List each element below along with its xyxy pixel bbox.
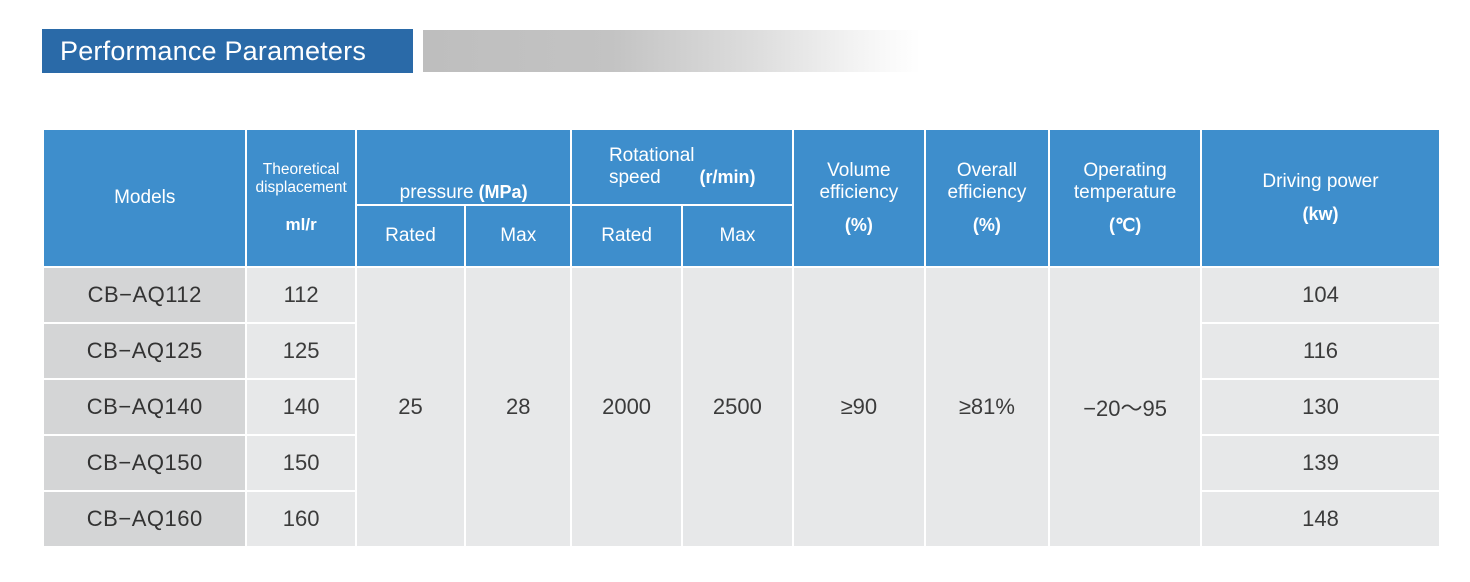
cell-operating-temperature: −20～95	[1050, 268, 1200, 546]
section-title-band: Performance Parameters	[42, 29, 1442, 73]
rotational-speed-label: Rotational speed	[609, 145, 695, 189]
cell-model: CB−AQ125	[44, 324, 245, 378]
column-header-rotational-max: Max	[683, 206, 792, 266]
cell-displacement: 140	[247, 380, 354, 434]
cell-driving-power: 130	[1202, 380, 1439, 434]
cell-rotational-max: 2500	[683, 268, 792, 546]
cell-rotational-rated: 2000	[572, 268, 680, 546]
driving-power-label: Driving power	[1262, 171, 1378, 193]
column-header-volume-efficiency: Volume efficiency (%)	[794, 130, 924, 266]
column-header-rotational-speed-group: Rotational speed (r/min)	[572, 130, 792, 204]
table-header: Models Theoretical displacement ml/r pre…	[44, 130, 1439, 266]
volume-efficiency-unit: (%)	[845, 215, 873, 236]
column-header-operating-temperature: Operating temperature (℃)	[1050, 130, 1200, 266]
pressure-label: pressure	[400, 182, 474, 204]
cell-model: CB−AQ160	[44, 492, 245, 546]
column-header-pressure-group: pressure (MPa)	[357, 130, 571, 204]
column-header-theoretical-displacement: Theoretical displacement ml/r	[247, 130, 354, 266]
cell-pressure-max: 28	[466, 268, 570, 546]
overall-efficiency-label: Overall efficiency	[947, 160, 1026, 204]
theoretical-displacement-unit: ml/r	[286, 215, 317, 235]
page-title: Performance Parameters	[42, 29, 413, 73]
header-row-top: Models Theoretical displacement ml/r pre…	[44, 130, 1439, 204]
column-header-overall-efficiency: Overall efficiency (%)	[926, 130, 1049, 266]
cell-driving-power: 104	[1202, 268, 1439, 322]
performance-parameters-table: Models Theoretical displacement ml/r pre…	[42, 128, 1441, 548]
pressure-unit: (MPa)	[479, 182, 528, 204]
cell-driving-power: 148	[1202, 492, 1439, 546]
column-header-pressure-rated: Rated	[357, 206, 464, 266]
table-row: CB−AQ112 112 25 28 2000 2500 ≥90 ≥81% −2…	[44, 268, 1439, 322]
cell-displacement: 150	[247, 436, 354, 490]
cell-driving-power: 116	[1202, 324, 1439, 378]
cell-displacement: 125	[247, 324, 354, 378]
column-header-driving-power: Driving power (kw)	[1202, 130, 1439, 266]
operating-temperature-label: Operating temperature	[1074, 160, 1176, 204]
column-header-models: Models	[44, 130, 245, 266]
table-body: CB−AQ112 112 25 28 2000 2500 ≥90 ≥81% −2…	[44, 268, 1439, 546]
theoretical-displacement-label: Theoretical displacement	[255, 161, 346, 198]
operating-temperature-unit: (℃)	[1109, 215, 1141, 236]
cell-model: CB−AQ112	[44, 268, 245, 322]
cell-displacement: 160	[247, 492, 354, 546]
cell-driving-power: 139	[1202, 436, 1439, 490]
cell-pressure-rated: 25	[357, 268, 464, 546]
cell-overall-efficiency: ≥81%	[926, 268, 1049, 546]
overall-efficiency-unit: (%)	[973, 215, 1001, 236]
column-header-pressure-max: Max	[466, 206, 570, 266]
driving-power-unit: (kw)	[1303, 204, 1339, 225]
cell-volume-efficiency: ≥90	[794, 268, 924, 546]
volume-efficiency-label: Volume efficiency	[819, 160, 898, 204]
cell-model: CB−AQ140	[44, 380, 245, 434]
cell-model: CB−AQ150	[44, 436, 245, 490]
column-header-rotational-rated: Rated	[572, 206, 680, 266]
title-gradient-bar	[423, 30, 920, 72]
cell-displacement: 112	[247, 268, 354, 322]
rotational-speed-unit: (r/min)	[700, 167, 756, 189]
